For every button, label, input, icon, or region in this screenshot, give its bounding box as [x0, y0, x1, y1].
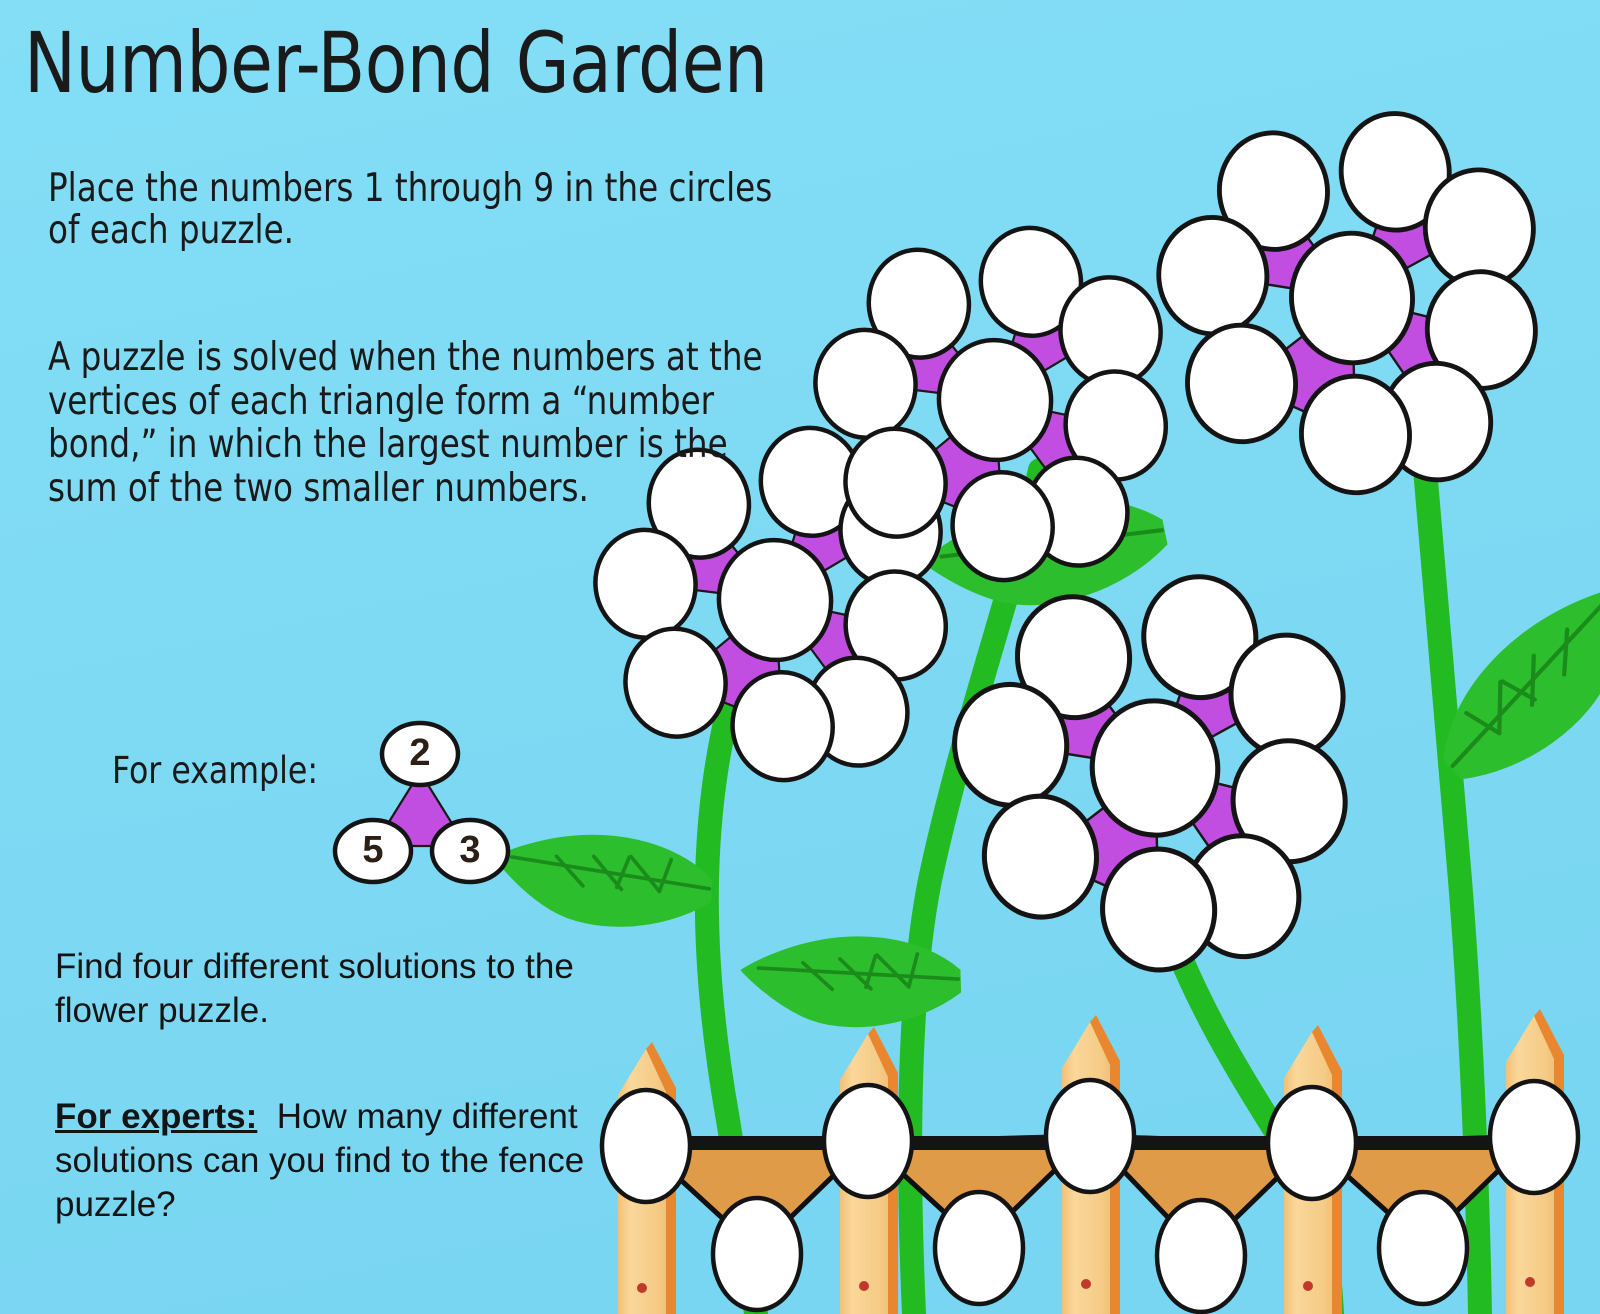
instruction-line-1: Place the numbers 1 through 9 in the cir… — [48, 168, 792, 251]
page-title: Number-Bond Garden — [24, 24, 768, 104]
experts-spacer — [257, 1097, 276, 1136]
task-text: Find four different solutions to the flo… — [55, 945, 595, 1033]
example-number-bottom-left: 5 — [337, 829, 409, 872]
instruction-line-2: A puzzle is solved when the numbers at t… — [48, 336, 783, 511]
experts-text: For experts: How many different solution… — [55, 1095, 615, 1226]
example-number-top: 2 — [384, 732, 456, 775]
example-number-bottom-right: 3 — [434, 829, 506, 872]
for-example-label: For example: — [112, 748, 318, 793]
experts-label: For experts: — [55, 1097, 257, 1136]
number-bond-garden-poster: #artboard .petal { fill:#C14EE0; stroke:… — [0, 0, 1600, 1314]
